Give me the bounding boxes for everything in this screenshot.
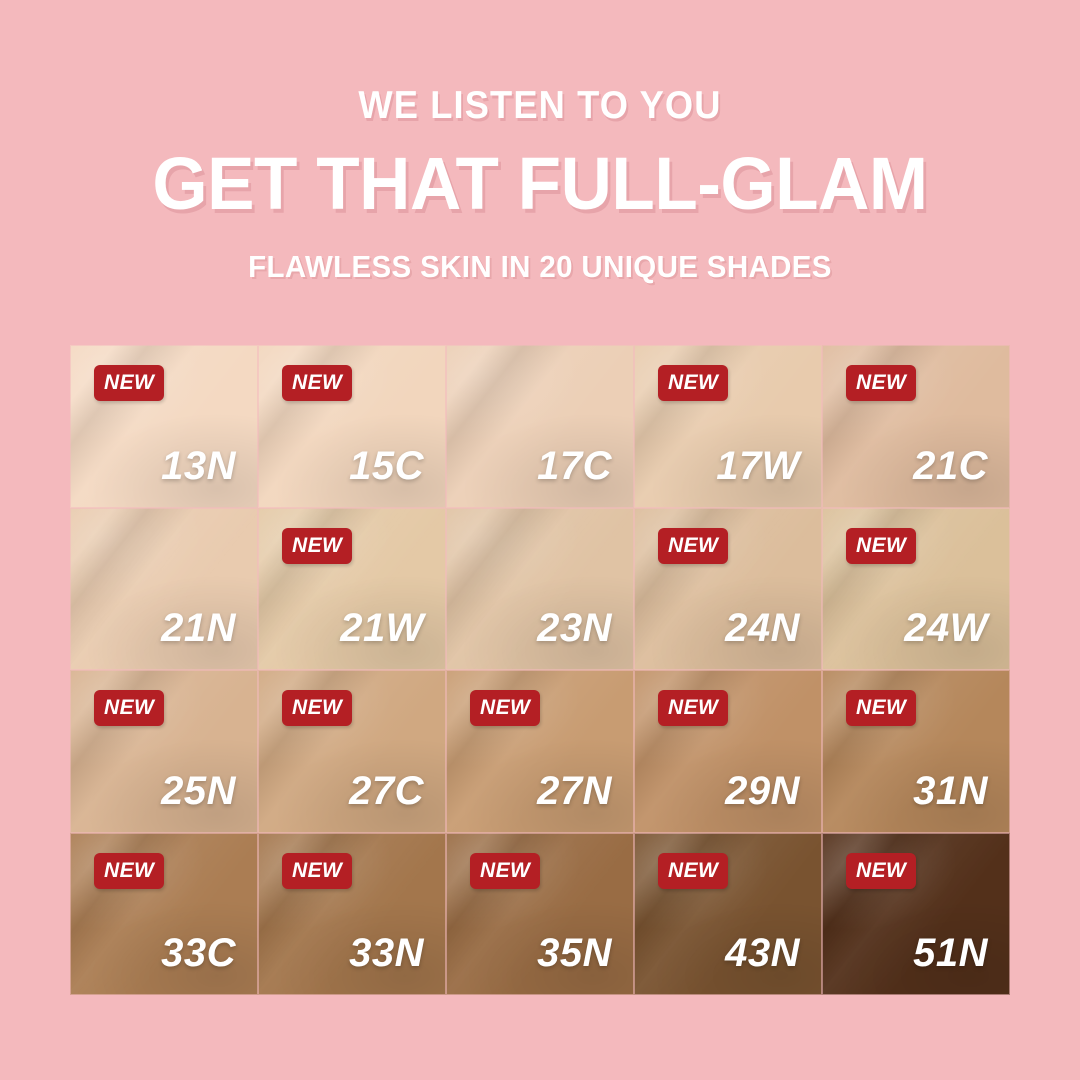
shade-swatch[interactable]: 23N (446, 508, 634, 671)
shade-code-label: 27N (537, 771, 612, 811)
shade-code-label: 17W (716, 446, 800, 486)
shade-code-label: 31N (913, 771, 988, 811)
promo-header: WE LISTEN TO YOU GET THAT FULL-GLAM FLAW… (0, 0, 1080, 282)
new-badge: NEW (846, 365, 916, 401)
shade-swatch[interactable]: 17C (446, 345, 634, 508)
shade-code-label: 25N (161, 771, 236, 811)
shade-swatch[interactable]: NEW13N (70, 345, 258, 508)
shade-swatch[interactable]: NEW27N (446, 670, 634, 833)
shade-code-label: 21C (913, 446, 988, 486)
shade-code-label: 29N (725, 771, 800, 811)
shade-swatch[interactable]: NEW29N (634, 670, 822, 833)
new-badge: NEW (282, 690, 352, 726)
header-subline: FLAWLESS SKIN IN 20 UNIQUE SHADES (27, 251, 1053, 282)
new-badge: NEW (282, 365, 352, 401)
header-headline: GET THAT FULL-GLAM (22, 147, 1059, 221)
shade-code-label: 27C (349, 771, 424, 811)
new-badge: NEW (846, 690, 916, 726)
shade-swatch[interactable]: NEW33N (258, 833, 446, 996)
shade-swatch[interactable]: NEW51N (822, 833, 1010, 996)
shade-swatch[interactable]: NEW35N (446, 833, 634, 996)
shade-grid: NEW13NNEW15C17CNEW17WNEW21C21NNEW21W23NN… (70, 345, 1010, 995)
new-badge: NEW (658, 690, 728, 726)
shade-code-label: 17C (537, 446, 612, 486)
shade-swatch[interactable]: NEW17W (634, 345, 822, 508)
shade-code-label: 43N (725, 933, 800, 973)
shade-code-label: 24N (725, 608, 800, 648)
new-badge: NEW (846, 853, 916, 889)
shade-swatch[interactable]: NEW15C (258, 345, 446, 508)
shade-code-label: 15C (349, 446, 424, 486)
new-badge: NEW (470, 853, 540, 889)
new-badge: NEW (282, 853, 352, 889)
shade-code-label: 23N (537, 608, 612, 648)
shade-code-label: 33N (349, 933, 424, 973)
header-eyebrow: WE LISTEN TO YOU (38, 86, 1042, 125)
shade-code-label: 35N (537, 933, 612, 973)
new-badge: NEW (658, 528, 728, 564)
shade-code-label: 33C (161, 933, 236, 973)
shade-swatch[interactable]: NEW24N (634, 508, 822, 671)
shade-swatch[interactable]: NEW21W (258, 508, 446, 671)
shade-swatch[interactable]: NEW33C (70, 833, 258, 996)
shade-swatch[interactable]: NEW27C (258, 670, 446, 833)
shade-swatch[interactable]: NEW24W (822, 508, 1010, 671)
shade-code-label: 21N (161, 608, 236, 648)
new-badge: NEW (846, 528, 916, 564)
shade-swatch[interactable]: NEW25N (70, 670, 258, 833)
new-badge: NEW (94, 853, 164, 889)
shade-code-label: 13N (161, 446, 236, 486)
shade-code-label: 21W (340, 608, 424, 648)
shade-swatch[interactable]: 21N (70, 508, 258, 671)
shade-code-label: 51N (913, 933, 988, 973)
shade-swatch[interactable]: NEW21C (822, 345, 1010, 508)
new-badge: NEW (282, 528, 352, 564)
shade-swatch[interactable]: NEW31N (822, 670, 1010, 833)
shade-code-label: 24W (904, 608, 988, 648)
new-badge: NEW (94, 365, 164, 401)
shade-swatch[interactable]: NEW43N (634, 833, 822, 996)
new-badge: NEW (470, 690, 540, 726)
new-badge: NEW (658, 365, 728, 401)
new-badge: NEW (658, 853, 728, 889)
new-badge: NEW (94, 690, 164, 726)
